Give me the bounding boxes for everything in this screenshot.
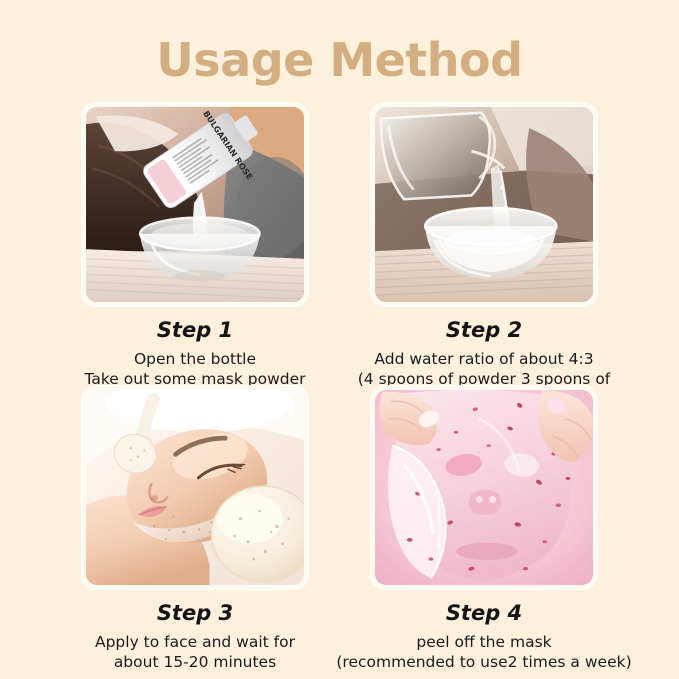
step-2-label: Step 2 xyxy=(371,318,597,342)
page-title: Usage Method xyxy=(0,33,679,87)
step-1-photo-frame: BULGARIAN ROSE xyxy=(82,103,308,306)
applying-mask-to-face-with-spatula xyxy=(86,390,304,585)
step-4-photo-frame xyxy=(371,386,597,589)
step-card-1: BULGARIAN ROSE Step 1 xyxy=(82,103,308,390)
step-3-label: Step 3 xyxy=(82,601,308,625)
step-3-photo-frame xyxy=(82,386,308,589)
step-2-photo-frame xyxy=(371,103,597,306)
step-3-description: Apply to face and wait for about 15-20 m… xyxy=(60,632,330,673)
step-card-2: Step 2 Add water ratio of about 4:3 (4 s… xyxy=(371,103,597,410)
step-4-label: Step 4 xyxy=(371,601,597,625)
step-1-label: Step 1 xyxy=(82,318,308,342)
step-card-3: Step 3 Apply to face and wait for about … xyxy=(82,386,308,673)
peeling-off-pink-rose-petal-gel-mask xyxy=(375,390,593,585)
step-4-description: peel off the mask (recommended to use2 t… xyxy=(334,632,634,673)
pouring-water-from-pitcher-into-powder-bowl xyxy=(375,107,593,302)
step-1-description: Open the bottle Take out some mask powde… xyxy=(60,349,330,390)
step-card-4: Step 4 peel off the mask (recommended to… xyxy=(371,386,597,673)
pouring-mask-powder-from-bottle-into-glass-bowl: BULGARIAN ROSE xyxy=(86,107,304,302)
usage-method-infographic: Usage Method xyxy=(0,0,679,679)
